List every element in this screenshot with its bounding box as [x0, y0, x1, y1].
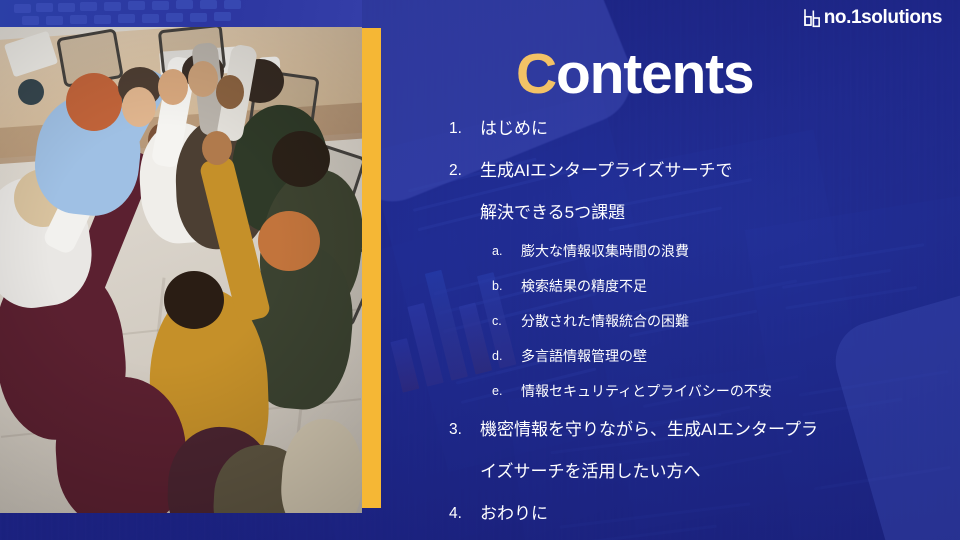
toc-subitem-2d[interactable]: d. 多言語情報管理の壁: [449, 339, 919, 374]
photo-shading: [0, 27, 362, 513]
toc-subitem-2c[interactable]: c. 分散された情報統合の困難: [449, 304, 919, 339]
toc-subitem-2a[interactable]: a. 膨大な情報収集時間の浪費: [449, 234, 919, 269]
photo-keyboard-strip: [0, 0, 362, 27]
toc-subitem-marker: d.: [492, 339, 521, 374]
brand-logo-text: no.1solutions: [824, 8, 942, 28]
toc-item-marker: 1.: [449, 108, 480, 150]
toc-subitem-label: 情報セキュリティとプライバシーの不安: [521, 374, 919, 409]
toc-item-label: おわりに: [480, 493, 919, 535]
title-rest: ontents: [556, 42, 753, 106]
toc-subitem-marker: c.: [492, 304, 521, 339]
toc-subitem-label: 多言語情報管理の壁: [521, 339, 919, 374]
toc-subitem-label: 膨大な情報収集時間の浪費: [521, 234, 919, 269]
toc-subitem-label: 検索結果の精度不足: [521, 269, 919, 304]
yellow-accent-bar: [362, 28, 381, 508]
toc-item-label: 機密情報を守りながら、生成AIエンタープラ: [480, 409, 919, 451]
toc-subitem-marker: e.: [492, 374, 521, 409]
toc-subitem-label: 分散された情報統合の困難: [521, 304, 919, 339]
toc-item-marker: 4.: [449, 493, 480, 535]
ab-monogram-icon: [802, 8, 821, 28]
toc-subitem-marker: a.: [492, 234, 521, 269]
toc-item-2[interactable]: 2. 生成AIエンタープライズサーチで: [449, 150, 919, 192]
toc-subitem-2e[interactable]: e. 情報セキュリティとプライバシーの不安: [449, 374, 919, 409]
toc-item-marker: 2.: [449, 150, 480, 192]
toc-subitem-2b[interactable]: b. 検索結果の精度不足: [449, 269, 919, 304]
presentation-slide: no.1solutions Contents 1. はじめに 2. 生成AIエン…: [0, 0, 960, 540]
toc-subitem-marker: b.: [492, 269, 521, 304]
toc-item-label: 生成AIエンタープライズサーチで: [480, 150, 919, 192]
toc-item-3[interactable]: 3. 機密情報を守りながら、生成AIエンタープラ: [449, 409, 919, 451]
page-title: Contents: [516, 45, 753, 105]
toc-item-marker: 3.: [449, 409, 480, 451]
toc-item-label-wrap: 解決できる5つ課題: [449, 192, 919, 234]
toc-item-4[interactable]: 4. おわりに: [449, 493, 919, 535]
toc-item-label-wrap: イズサーチを活用したい方へ: [449, 451, 919, 493]
team-photo: [0, 27, 362, 513]
table-of-contents: 1. はじめに 2. 生成AIエンタープライズサーチで 解決できる5つ課題 a.…: [449, 108, 919, 535]
toc-item-label: はじめに: [480, 108, 919, 150]
brand-logo: no.1solutions: [802, 8, 942, 28]
title-accent-letter: C: [516, 42, 556, 106]
toc-item-1[interactable]: 1. はじめに: [449, 108, 919, 150]
